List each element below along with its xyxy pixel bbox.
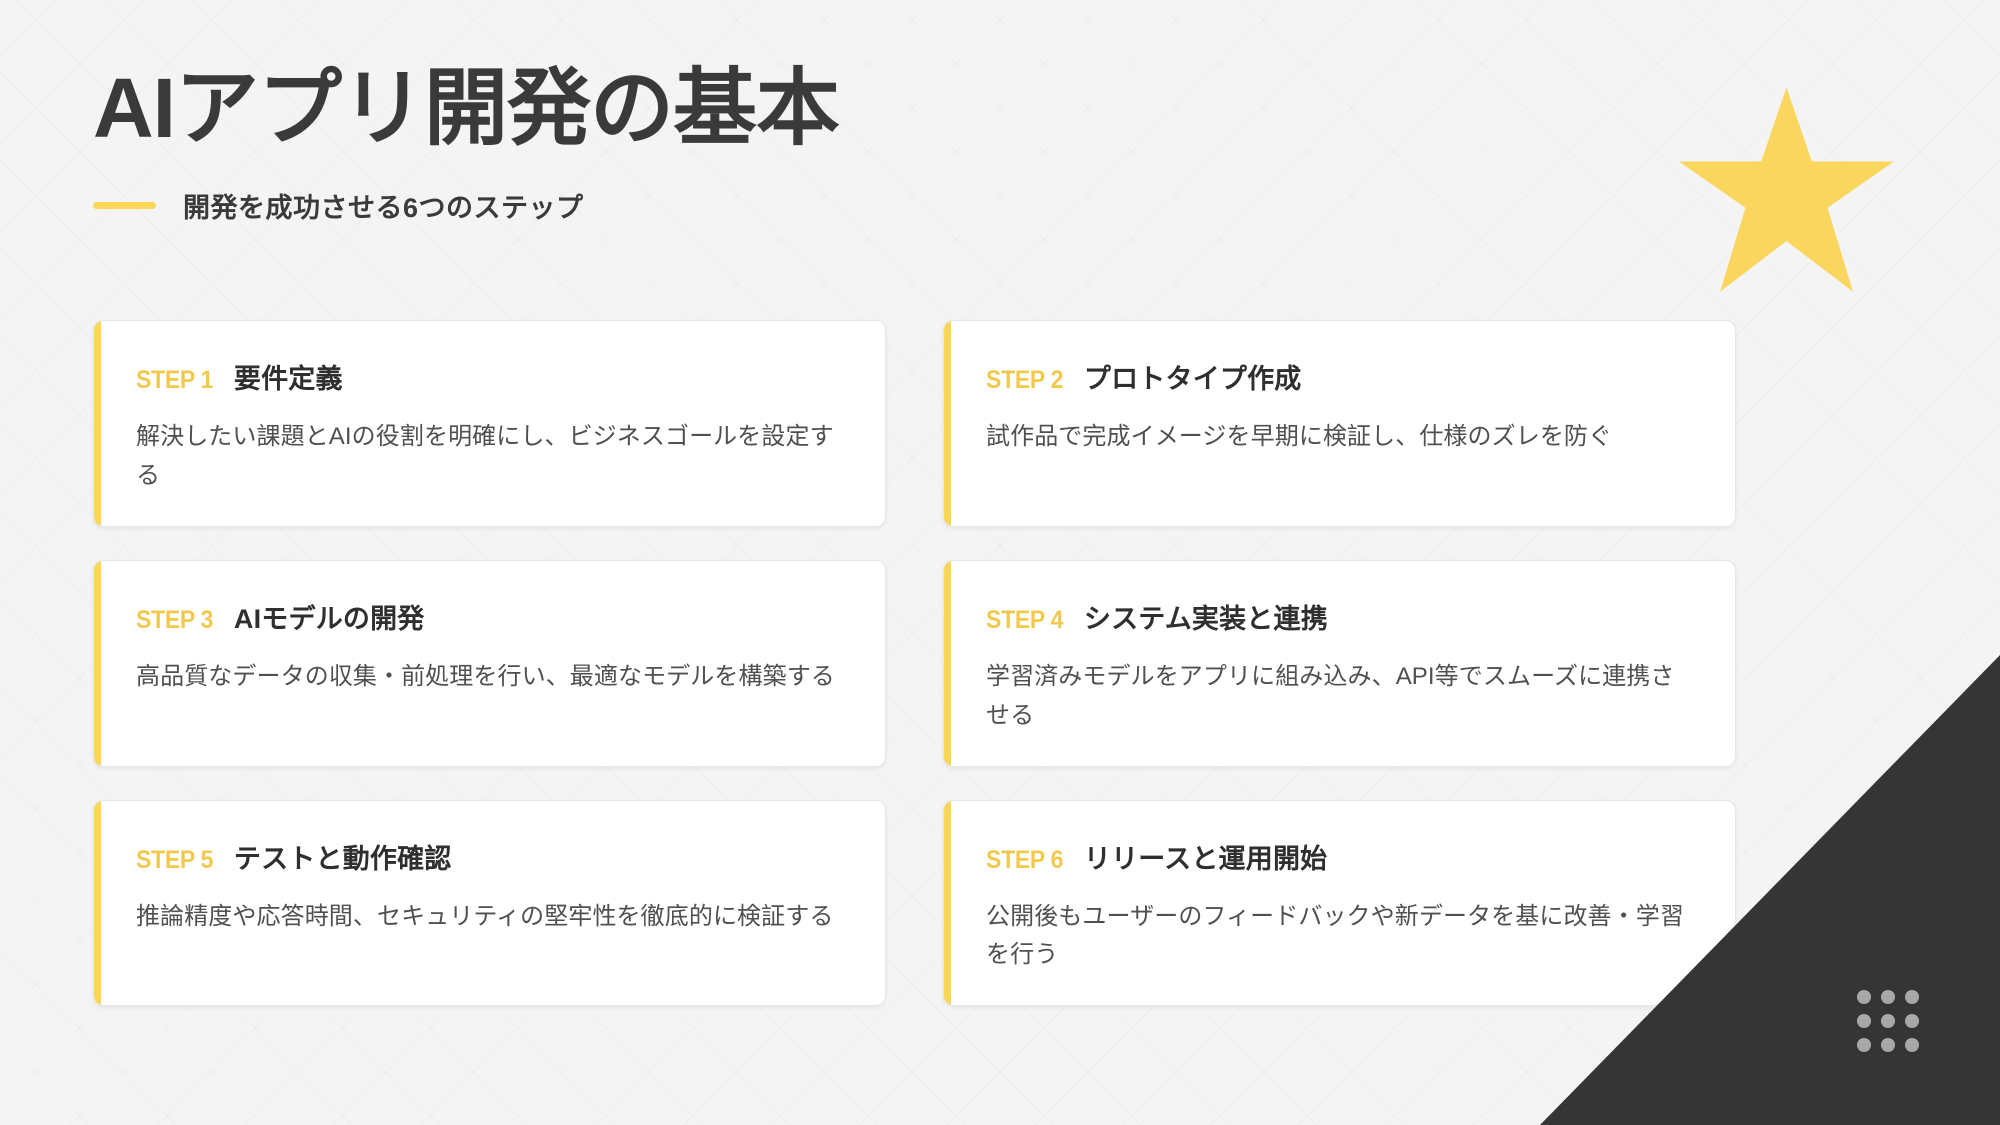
card-title: AIモデルの開発	[234, 597, 425, 636]
card-description: 推論精度や応答時間、セキュリティの堅牢性を徹底的に検証する	[136, 898, 847, 937]
card-title: リリースと運用開始	[1084, 837, 1327, 876]
dot	[1881, 1038, 1895, 1052]
card-heading: STEP 6 リリースと運用開始	[986, 837, 1697, 876]
card-description: 解決したい課題とAIの役割を明確にし、ビジネスゴールを設定する	[136, 418, 847, 496]
dot	[1905, 1038, 1919, 1052]
step-label: STEP 5	[136, 846, 213, 875]
step-card-grid: STEP 1 要件定義 解決したい課題とAIの役割を明確にし、ビジネスゴールを設…	[93, 320, 1738, 1006]
card-heading: STEP 4 システム実装と連携	[986, 597, 1697, 636]
step-card[interactable]: STEP 4 システム実装と連携 学習済みモデルをアプリに組み込み、API等でス…	[943, 560, 1736, 767]
dot-grid-icon	[1857, 990, 1919, 1052]
dot	[1857, 1014, 1871, 1028]
step-label: STEP 6	[986, 846, 1063, 875]
step-card[interactable]: STEP 2 プロトタイプ作成 試作品で完成イメージを早期に検証し、仕様のズレを…	[943, 320, 1736, 527]
dot	[1881, 990, 1895, 1004]
dash-accent-icon	[93, 202, 156, 209]
dot	[1905, 1014, 1919, 1028]
card-heading: STEP 2 プロトタイプ作成	[986, 357, 1697, 396]
card-title: システム実装と連携	[1084, 597, 1328, 636]
dot	[1881, 1014, 1895, 1028]
card-description: 試作品で完成イメージを早期に検証し、仕様のズレを防ぐ	[986, 418, 1697, 457]
card-heading: STEP 1 要件定義	[136, 357, 847, 396]
step-label: STEP 2	[986, 366, 1063, 395]
card-title: プロトタイプ作成	[1084, 357, 1302, 396]
card-heading: STEP 3 AIモデルの開発	[136, 597, 847, 636]
card-description: 学習済みモデルをアプリに組み込み、API等でスムーズに連携させる	[986, 658, 1697, 736]
step-card[interactable]: STEP 1 要件定義 解決したい課題とAIの役割を明確にし、ビジネスゴールを設…	[93, 320, 886, 527]
page-subtitle: 開発を成功させる6つのステップ	[183, 186, 584, 225]
step-label: STEP 4	[986, 606, 1063, 635]
step-card[interactable]: STEP 3 AIモデルの開発 高品質なデータの収集・前処理を行い、最適なモデル…	[93, 560, 886, 767]
step-card[interactable]: STEP 5 テストと動作確認 推論精度や応答時間、セキュリティの堅牢性を徹底的…	[93, 800, 886, 1007]
card-description: 公開後もユーザーのフィードバックや新データを基に改善・学習を行う	[986, 898, 1697, 976]
header: AIアプリ開発の基本 開発を成功させる6つのステップ	[93, 66, 1493, 225]
page-title: AIアプリ開発の基本	[93, 66, 1493, 150]
star-icon	[1679, 87, 1894, 292]
slide-canvas: AIアプリ開発の基本 開発を成功させる6つのステップ STEP 1 要件定義 解…	[0, 0, 2000, 1125]
card-title: 要件定義	[234, 357, 343, 396]
card-description: 高品質なデータの収集・前処理を行い、最適なモデルを構築する	[136, 658, 847, 697]
step-label: STEP 3	[136, 606, 213, 635]
step-card[interactable]: STEP 6 リリースと運用開始 公開後もユーザーのフィードバックや新データを基…	[943, 800, 1736, 1007]
dot	[1857, 1038, 1871, 1052]
dot	[1857, 990, 1871, 1004]
card-title: テストと動作確認	[234, 837, 452, 876]
card-heading: STEP 5 テストと動作確認	[136, 837, 847, 876]
step-label: STEP 1	[136, 366, 213, 395]
dot	[1905, 990, 1919, 1004]
subtitle-row: 開発を成功させる6つのステップ	[93, 186, 1493, 225]
